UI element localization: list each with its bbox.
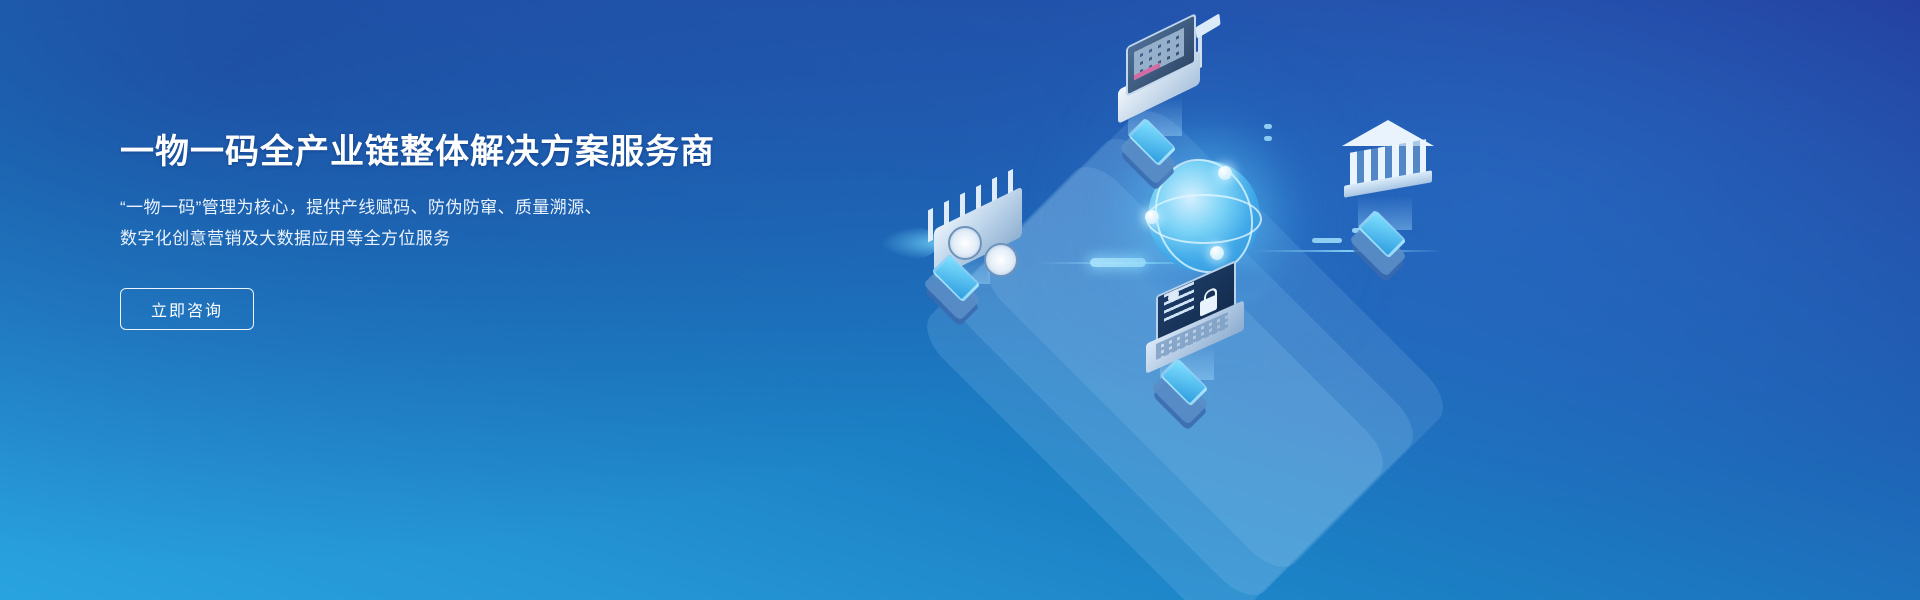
globe-node-left: [1145, 210, 1159, 224]
globe-node-top: [1218, 166, 1232, 180]
globe-ring-horizontal: [1146, 194, 1262, 244]
pedestal-pos: [1122, 120, 1184, 160]
page-title: 一物一码全产业链整体解决方案服务商: [120, 130, 715, 174]
isometric-network-illustration: [860, 0, 1920, 600]
hero-copy-block: 一物一码全产业链整体解决方案服务商 “一物一码”管理为核心，提供产线赋码、防伪防…: [120, 130, 715, 330]
pedestal-bank: [1352, 212, 1414, 252]
globe-node-bottom: [1210, 246, 1224, 260]
bank-building-icon: [1336, 120, 1440, 212]
data-dash-a: [1312, 238, 1342, 243]
pedestal-server: [926, 256, 988, 296]
server-fan-2-icon: [984, 243, 1018, 277]
pos-terminal-icon: [1112, 26, 1218, 122]
pedestal-laptop: [1154, 360, 1216, 400]
data-dash-d: [1264, 136, 1272, 141]
laptop-secure-icon: [1142, 278, 1252, 358]
hero-banner: 一物一码全产业链整体解决方案服务商 “一物一码”管理为核心，提供产线赋码、防伪防…: [0, 0, 1920, 600]
data-pulse-left: [1090, 258, 1146, 267]
hero-subtitle-line-1: “一物一码”管理为核心，提供产线赋码、防伪防窜、质量溯源、: [120, 192, 680, 223]
hero-subtitle-line-2: 数字化创意营销及大数据应用等全方位服务: [120, 223, 680, 254]
pos-customer-display: [1195, 13, 1220, 38]
data-dash-c: [1264, 124, 1272, 129]
hero-subtitle: “一物一码”管理为核心，提供产线赋码、防伪防窜、质量溯源、 数字化创意营销及大数…: [120, 192, 680, 254]
server-fan-1-icon: [948, 226, 982, 260]
consult-now-button[interactable]: 立即咨询: [120, 288, 254, 330]
